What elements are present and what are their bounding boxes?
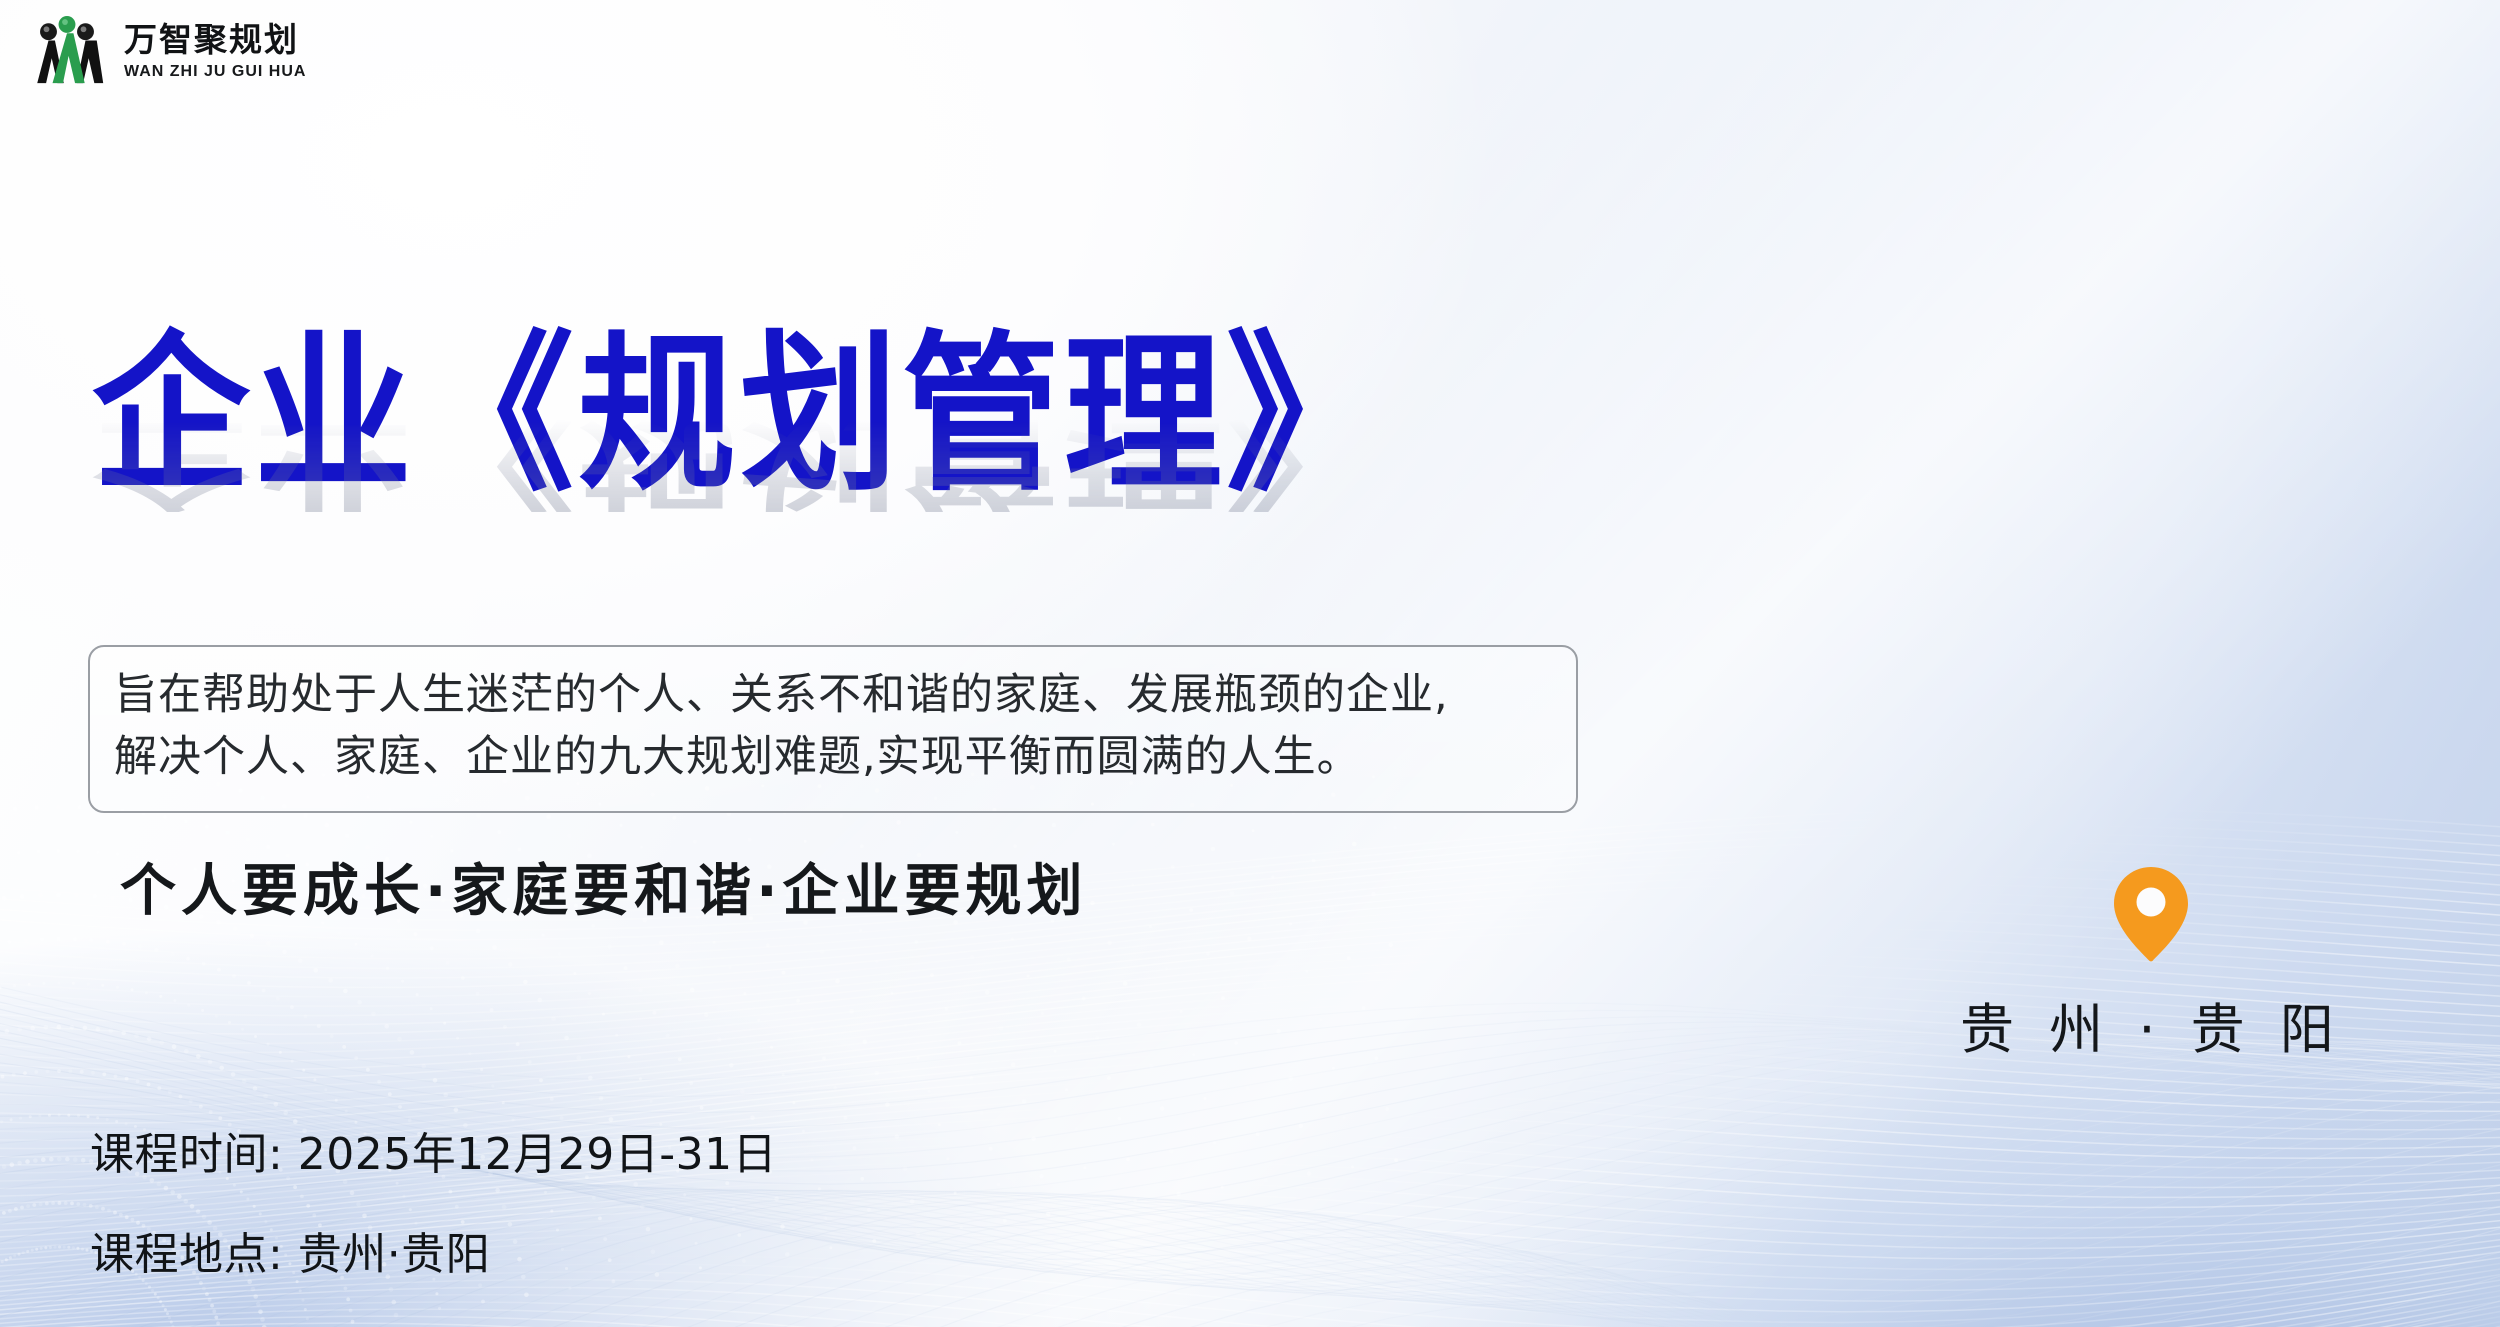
course-time: 课程时间: 2025年12月29日-31日 — [90, 1118, 777, 1182]
location-label: 贵 州 · 贵 阳 — [1960, 985, 2343, 1064]
title-block: 企业《规划管理》 企业《规划管理》 — [92, 330, 1388, 488]
page-title: 企业《规划管理》 — [92, 330, 1388, 501]
brand-name-cn: 万智聚规划 — [124, 23, 306, 58]
description-box: 旨在帮助处于人生迷茫的个人、关系不和谐的家庭、发展瓶颈的企业, 解决个人、家庭、… — [88, 645, 1578, 813]
promo-banner: 万智聚规划 WAN ZHI JU GUI HUA 企业《规划管理》 企业《规划管… — [0, 0, 2500, 1327]
brand-name-en: WAN ZHI JU GUI HUA — [124, 62, 306, 81]
description-line-1: 旨在帮助处于人生迷茫的个人、关系不和谐的家庭、发展瓶颈的企业, — [114, 665, 1552, 727]
brand-name-block: 万智聚规划 WAN ZHI JU GUI HUA — [124, 21, 306, 81]
description-line-2: 解决个人、家庭、企业的九大规划难题,实现平衡而圆满的人生。 — [114, 727, 1552, 789]
course-info-block: 课程时间: 2025年12月29日-31日 课程地点: 贵州·贵阳 — [90, 1118, 777, 1318]
tagline: 个人要成长·家庭要和谐·企业要规划 — [120, 846, 1088, 927]
three-people-logo-icon — [26, 14, 108, 88]
brand-logo[interactable]: 万智聚规划 WAN ZHI JU GUI HUA — [26, 14, 306, 88]
map-pin-icon — [2110, 865, 2192, 963]
course-place: 课程地点: 贵州·贵阳 — [90, 1218, 777, 1282]
location-block: 贵 州 · 贵 阳 — [1960, 865, 2343, 1064]
